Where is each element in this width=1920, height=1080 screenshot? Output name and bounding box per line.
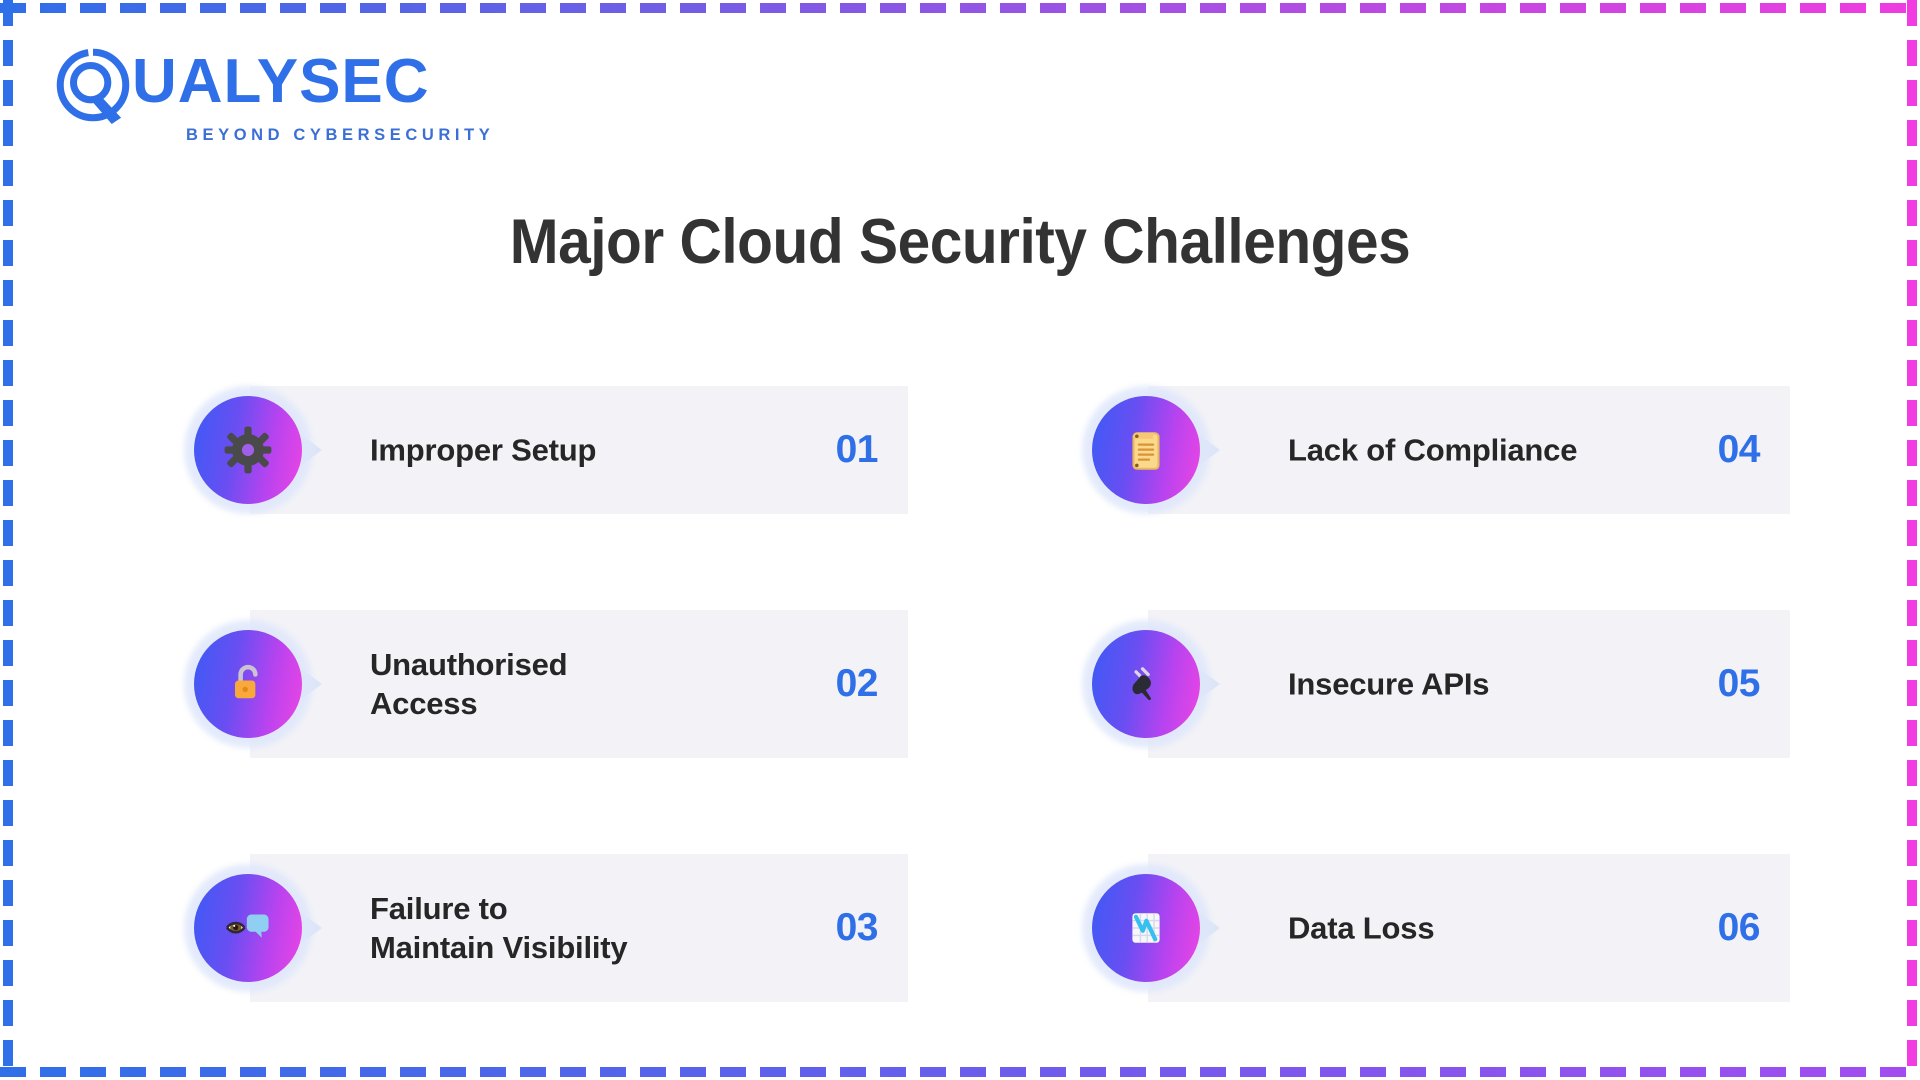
- challenge-card-failure-to-maintain-visibility[interactable]: Failure to Maintain Visibility 03: [190, 854, 908, 1002]
- icon-gradient-circle: [1092, 396, 1200, 504]
- card-icon-badge: [190, 392, 306, 508]
- card-label: Improper Setup: [370, 430, 596, 469]
- card-icon-badge: [1088, 392, 1204, 508]
- card-icon-badge: [1088, 626, 1204, 742]
- qualysec-q-mark-icon: [54, 46, 132, 124]
- eye-speech-bubble-icon: [220, 900, 276, 956]
- challenge-card-insecure-apis[interactable]: Insecure APIs 05: [1088, 610, 1790, 758]
- card-icon-badge: [190, 626, 306, 742]
- page-title: Major Cloud Security Challenges: [80, 206, 1840, 278]
- card-label: Unauthorised Access: [370, 645, 567, 723]
- brand-tagline: BEYOND CYBERSECURITY: [186, 126, 524, 145]
- icon-gradient-circle: [194, 630, 302, 738]
- card-background: [1148, 854, 1790, 1002]
- declining-chart-icon: [1122, 904, 1170, 952]
- border-edge-left: [3, 0, 13, 1080]
- challenge-card-data-loss[interactable]: Data Loss 06: [1088, 854, 1790, 1002]
- icon-gradient-circle: [194, 874, 302, 982]
- card-label: Failure to Maintain Visibility: [370, 889, 627, 967]
- card-icon-badge: [1088, 870, 1204, 986]
- card-number: 02: [836, 662, 878, 706]
- card-label: Data Loss: [1288, 908, 1434, 947]
- challenge-card-lack-of-compliance[interactable]: Lack of Compliance 04: [1088, 386, 1790, 514]
- card-number: 05: [1718, 662, 1760, 706]
- challenge-card-improper-setup[interactable]: Improper Setup 01: [190, 386, 908, 514]
- border-edge-bottom: [0, 1067, 1920, 1077]
- gear-icon: [221, 423, 275, 477]
- svg-text:UALYSEC: UALYSEC: [132, 50, 430, 116]
- unlocked-padlock-icon: [222, 658, 274, 710]
- icon-gradient-circle: [194, 396, 302, 504]
- card-label: Lack of Compliance: [1288, 430, 1577, 469]
- card-background: [250, 610, 908, 758]
- card-number: 06: [1718, 906, 1760, 950]
- border-edge-top: [0, 3, 1920, 13]
- qualysec-logo: UALYSEC BEYOND CYBERSECURITY: [54, 46, 524, 145]
- icon-gradient-circle: [1092, 630, 1200, 738]
- card-label: Insecure APIs: [1288, 664, 1489, 703]
- qualysec-wordmark: UALYSEC: [132, 50, 472, 121]
- infographic-canvas: UALYSEC BEYOND CYBERSECURITY Major Cloud…: [14, 14, 1906, 1066]
- card-number: 03: [836, 906, 878, 950]
- icon-gradient-circle: [1092, 874, 1200, 982]
- challenge-card-unauthorised-access[interactable]: Unauthorised Access 02: [190, 610, 908, 758]
- power-plug-icon: [1120, 658, 1172, 710]
- border-edge-right: [1907, 0, 1917, 1080]
- card-number: 04: [1718, 428, 1760, 472]
- challenges-grid: Improper Setup 01: [190, 386, 1790, 1002]
- card-number: 01: [836, 428, 878, 472]
- scroll-document-icon: [1121, 425, 1171, 475]
- card-icon-badge: [190, 870, 306, 986]
